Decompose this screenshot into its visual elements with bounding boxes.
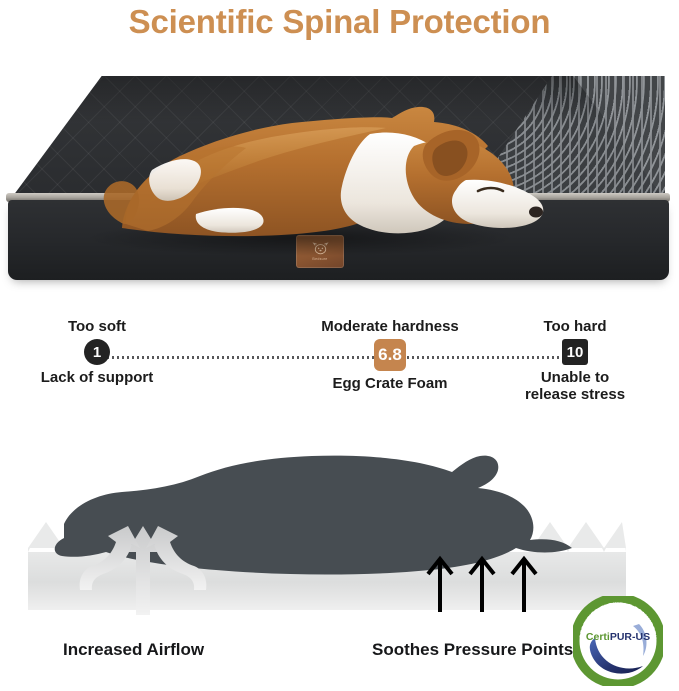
scale-stop-moderate-bottom-label: Egg Crate Foam	[300, 375, 480, 392]
scale-stop-too-hard: Too hard 10 Unable to release stress	[505, 318, 645, 403]
caption-soothes-pressure-points: Soothes Pressure Points	[372, 640, 573, 660]
certipur-us-badge: CONTAINS CERTIFIED FLEXIBLE POLYURETHANE…	[573, 596, 663, 686]
product-photo: Bedsure	[0, 52, 679, 292]
scale-stop-too-soft: Too soft 1 Lack of support	[22, 318, 172, 386]
scale-marker-6-8: 6.8	[374, 339, 406, 371]
hardness-scale: Too soft 1 Lack of support Moderate hard…	[0, 310, 679, 410]
caption-increased-airflow: Increased Airflow	[63, 640, 204, 660]
scale-stop-too-hard-bottom-label-line2: release stress	[505, 386, 645, 403]
scale-marker-10: 10	[562, 339, 588, 365]
scale-marker-1: 1	[84, 339, 110, 365]
scale-stop-too-soft-bottom-label: Lack of support	[22, 369, 172, 386]
dog-illustration	[0, 52, 679, 292]
badge-center-text: CertiPUR-US	[586, 631, 650, 643]
scale-stop-moderate: Moderate hardness 6.8 Egg Crate Foam	[300, 318, 480, 392]
dog-silhouette	[55, 456, 572, 575]
scale-stop-moderate-top-label: Moderate hardness	[300, 318, 480, 336]
scale-stop-too-soft-top-label: Too soft	[22, 318, 172, 336]
scale-stop-too-hard-bottom-label-line1: Unable to	[505, 369, 645, 386]
page-title: Scientific Spinal Protection	[0, 0, 679, 44]
scale-stop-too-hard-top-label: Too hard	[505, 318, 645, 336]
